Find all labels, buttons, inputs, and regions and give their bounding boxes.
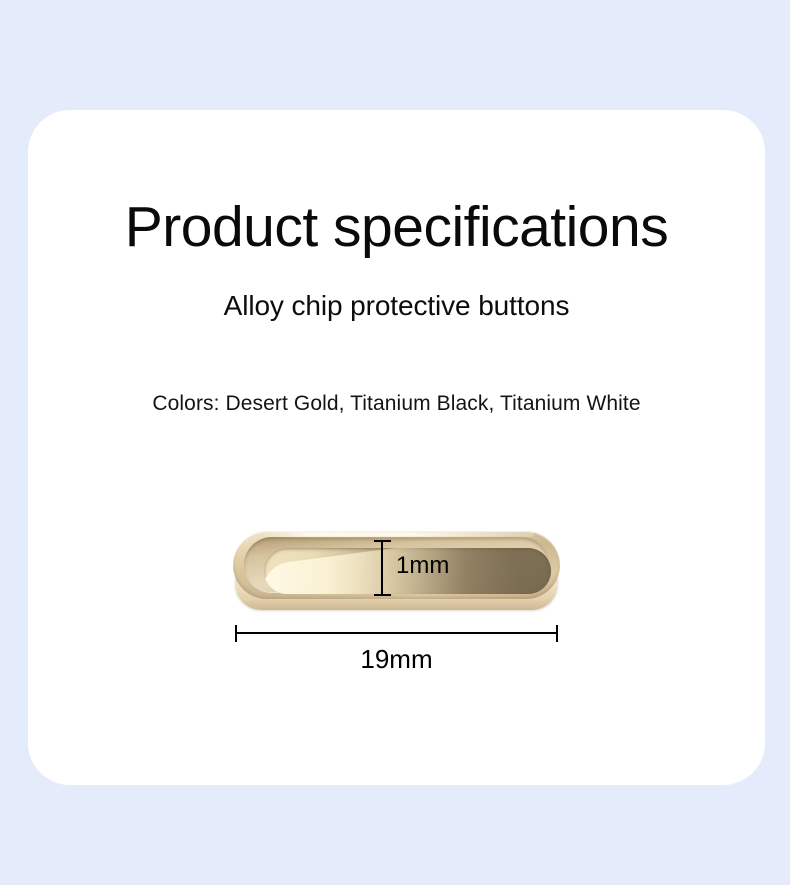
width-dimension: 19mm — [228, 622, 568, 682]
width-dimension-label: 19mm — [228, 644, 565, 675]
height-dimension-label: 1mm — [396, 552, 449, 580]
spec-card: Product specifications Alloy chip protec… — [28, 110, 765, 785]
height-dimension-cap-bottom — [374, 594, 391, 596]
width-dimension-cap-right — [556, 625, 558, 642]
product-figure: 1mm 19mm — [28, 110, 765, 785]
width-dimension-line — [235, 632, 558, 634]
product-spec-page: { "page": { "background_color": "#e4ecfb… — [0, 0, 790, 885]
height-dimension: 1mm — [373, 535, 433, 605]
height-dimension-line — [381, 540, 383, 596]
